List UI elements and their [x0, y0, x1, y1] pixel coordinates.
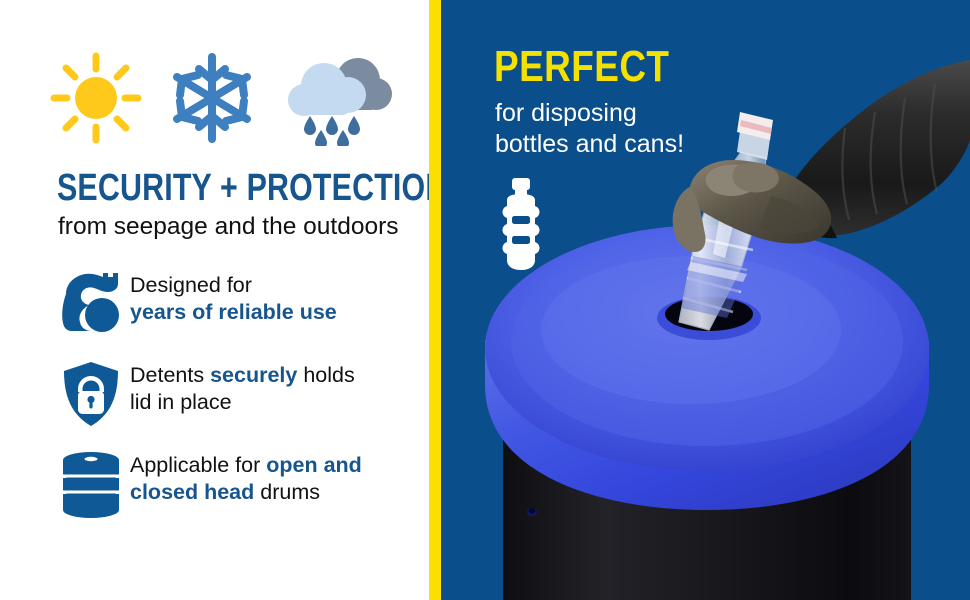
bullet-3-bold-2: closed head	[130, 480, 254, 504]
bullet-3-bold: open and	[266, 453, 362, 477]
feature-list: Designed for years of reliable use	[52, 268, 422, 538]
page-title: SECURITY + PROTECTION	[57, 168, 329, 208]
bullet-1-line-1: Designed for	[130, 273, 252, 297]
perfect-subtitle-line-2: bottles and cans!	[495, 130, 684, 158]
weather-icon-row	[48, 44, 398, 156]
flexed-bicep-icon	[52, 268, 130, 332]
perfect-title: PERFECT	[494, 44, 669, 90]
perfect-subtitle: for disposing bottles and cans!	[495, 98, 684, 160]
page-subtitle: from seepage and the outdoors	[58, 212, 418, 242]
bullet-2-post: holds	[297, 363, 354, 387]
list-item-text: Designed for years of reliable use	[130, 268, 422, 326]
right-panel: PERFECT for disposing bottles and cans!	[441, 0, 970, 600]
bullet-1-line-2: years of reliable use	[130, 300, 337, 324]
rain-cloud-icon	[280, 50, 392, 151]
left-panel: SECURITY + PROTECTION from seepage and t…	[0, 0, 429, 600]
bullet-2-pre: Detents	[130, 363, 210, 387]
perfect-subtitle-line-1: for disposing	[495, 99, 637, 127]
bullet-3-pre: Applicable for	[130, 453, 266, 477]
vertical-divider	[429, 0, 441, 600]
list-item-text: Detents securely holds lid in place	[130, 358, 422, 416]
list-item: Designed for years of reliable use	[52, 268, 422, 340]
sun-icon	[48, 50, 144, 151]
list-item-text: Applicable for open and closed head drum…	[130, 448, 422, 506]
shield-lock-icon	[52, 358, 130, 428]
promo-banner: SECURITY + PROTECTION from seepage and t…	[0, 0, 970, 600]
snowflake-icon	[170, 50, 254, 151]
list-item: Detents securely holds lid in place	[52, 358, 422, 430]
water-bottle-icon	[493, 176, 549, 279]
drum-barrel-icon	[52, 448, 130, 520]
list-item: Applicable for open and closed head drum…	[52, 448, 422, 520]
bullet-2-bold: securely	[210, 363, 297, 387]
bullet-3-post: drums	[254, 480, 320, 504]
bullet-2-line-2: lid in place	[130, 390, 232, 414]
